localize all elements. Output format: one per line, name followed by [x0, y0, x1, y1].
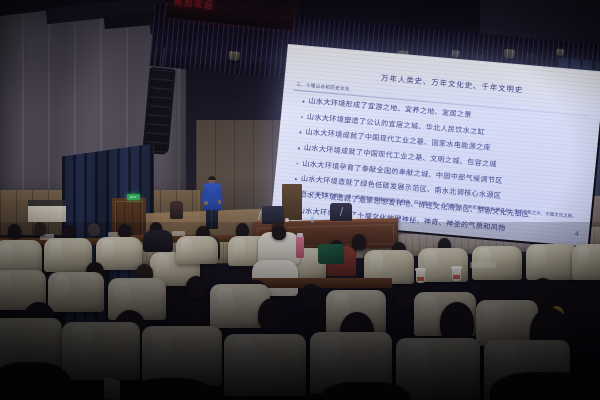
seat [572, 244, 600, 280]
row-desk [252, 278, 392, 288]
audience-head [258, 298, 288, 332]
audience-head [34, 222, 46, 236]
exit-sign: EXIT [127, 194, 140, 200]
presenter-left-hand [204, 201, 208, 205]
speaker-cabinet [142, 67, 175, 155]
projection-screen: 万年人类史、万年文化史、千年文明史 三、十堰山水和历史文化 山水大环境形成了宜游… [271, 44, 600, 249]
paper-cup [416, 270, 425, 283]
audience-head [490, 372, 600, 400]
stage-spotlight-icon [228, 51, 240, 61]
lectern [282, 184, 302, 220]
stage-spotlight-icon [250, 57, 262, 67]
pink-thermos-bottle [296, 236, 304, 258]
audience-head [186, 276, 206, 298]
audience-head [0, 362, 70, 400]
presenter [203, 176, 221, 228]
water-cup [352, 215, 356, 219]
audience-head [118, 224, 131, 238]
seat [142, 326, 222, 386]
auditorium-photo: 热烈欢迎 EXIT 万年人类史、万年文化史、千年文明史 三、十堰山水和历史文化 … [0, 0, 600, 400]
stage-spotlight-icon [451, 50, 460, 58]
seat [396, 338, 480, 400]
paper-cup [452, 268, 461, 281]
paper-cup [104, 380, 120, 400]
audience-body [143, 230, 173, 252]
audience-head [128, 378, 214, 400]
presenter-hair [208, 176, 216, 180]
audience-area [0, 222, 600, 400]
presenter-right-hand [218, 200, 222, 204]
audience-head [394, 286, 416, 310]
audience-head [300, 284, 322, 308]
stage-spotlight-icon [525, 53, 537, 63]
handout-paper [470, 262, 496, 268]
seated-staff-on-stage [170, 201, 183, 219]
seat [44, 238, 92, 272]
audience-head [272, 226, 286, 240]
green-tote-bag [318, 244, 344, 264]
audience-head [88, 223, 100, 236]
seat [96, 237, 142, 270]
exit-sign-label: EXIT [127, 194, 140, 200]
audience-head [320, 382, 410, 400]
seat [48, 272, 104, 312]
seat [224, 334, 306, 396]
hanging-line-array-speaker [146, 48, 172, 154]
stage-spotlight-icon [556, 49, 565, 57]
seat [526, 244, 578, 280]
seat [0, 240, 42, 274]
audience-head [8, 224, 21, 239]
seat [62, 322, 140, 380]
seat [176, 236, 218, 264]
led-banner-text: 热烈欢迎 [174, 0, 215, 13]
audience-head [352, 234, 366, 250]
av-equipment-rack [28, 200, 66, 222]
stage-spotlight-icon [504, 49, 516, 59]
